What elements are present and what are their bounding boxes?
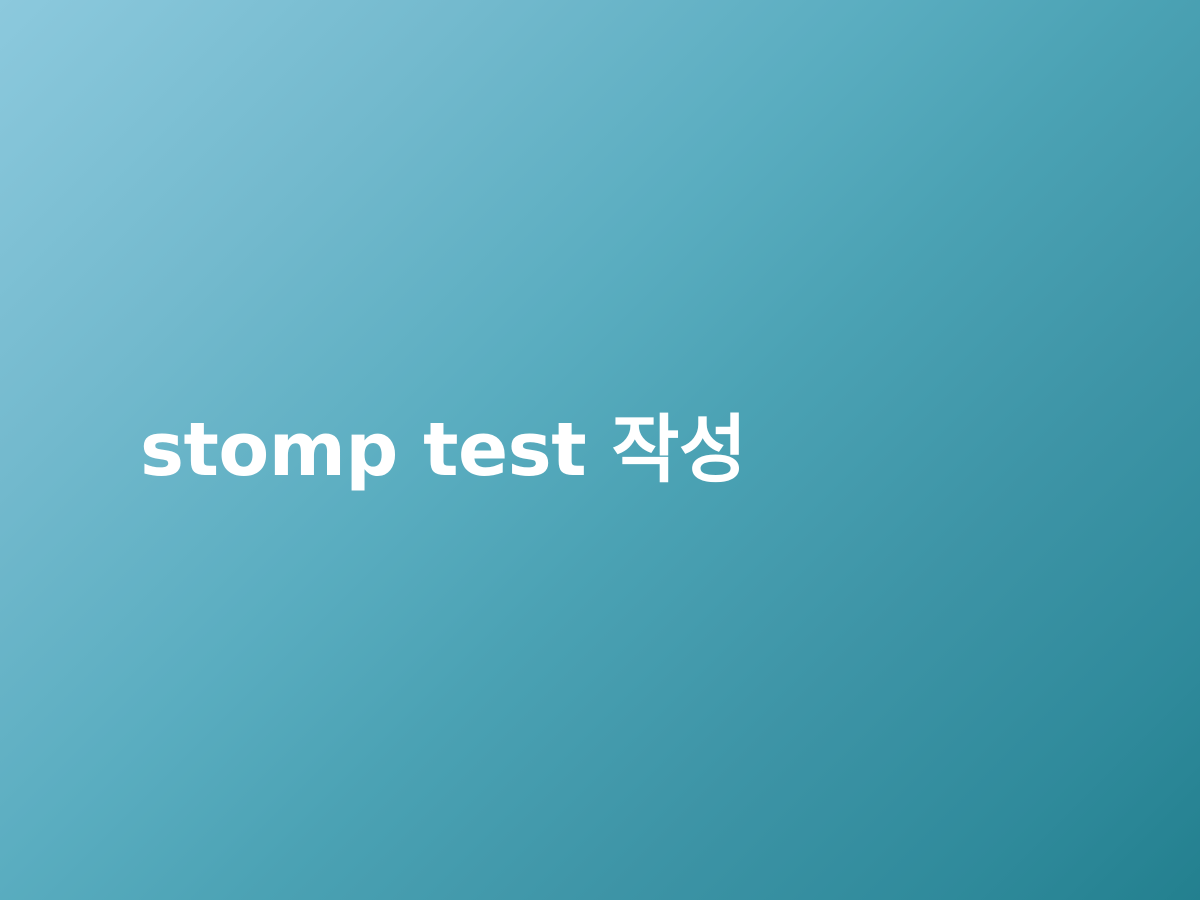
title-block: stomp test 작성: [140, 0, 1100, 900]
title-slide: stomp test 작성: [0, 0, 1200, 900]
slide-title: stomp test 작성: [140, 413, 747, 487]
